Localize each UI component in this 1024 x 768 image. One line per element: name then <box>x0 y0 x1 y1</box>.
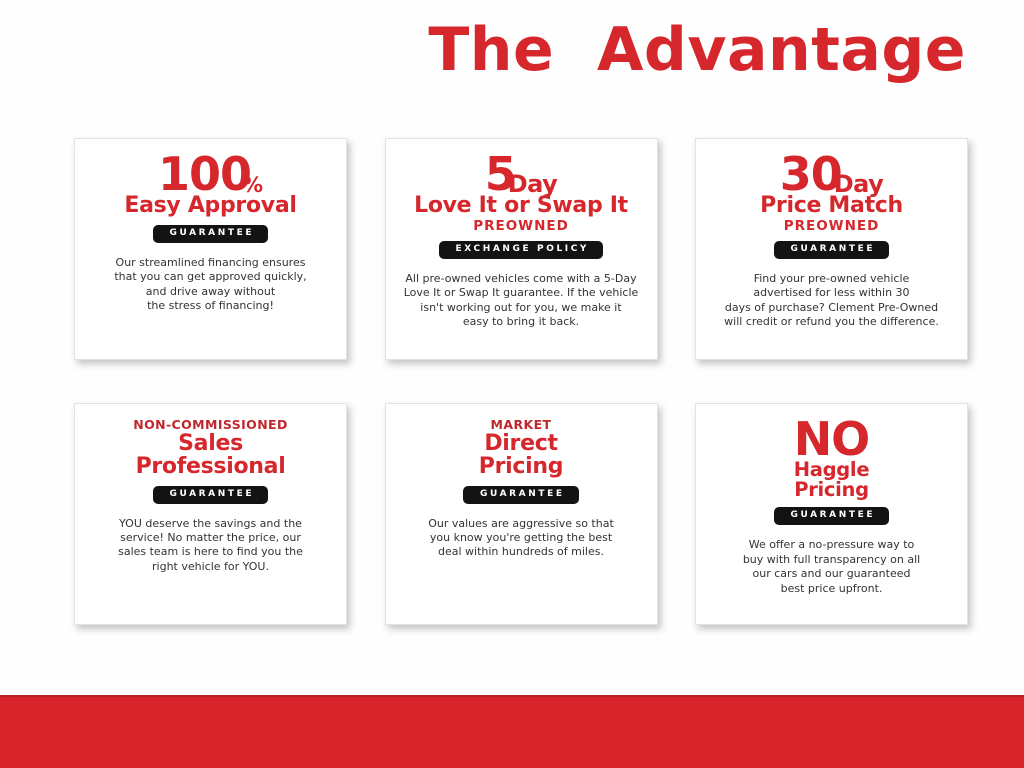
page-title: The Advantage <box>428 14 966 86</box>
card-subline: PREOWNED <box>708 218 955 234</box>
card-kicker: MARKET <box>398 418 645 432</box>
card-body-text: YOU deserve the savings and the service!… <box>118 517 303 575</box>
card-row-top: 100% Easy Approval GUARANTEE Our streaml… <box>74 138 968 360</box>
card-heading: NO Haggle Pricing <box>708 418 955 500</box>
card-headline-line2: Pricing <box>398 456 645 479</box>
card-heading: 100% Easy Approval <box>87 153 334 218</box>
lockup-day-word: Day <box>834 170 884 198</box>
card-headline: Sales <box>87 433 334 456</box>
card-inner: NO Haggle Pricing GUARANTEE We offer a n… <box>708 418 955 596</box>
lockup-5-day: 5Day <box>398 153 645 195</box>
card-inner: MARKET Direct Pricing GUARANTEE Our valu… <box>398 418 645 560</box>
lockup-day-word: Day <box>508 170 558 198</box>
card-inner: 30Day Price Match PREOWNED GUARANTEE Fin… <box>708 153 955 330</box>
lockup-no: NO <box>708 418 955 460</box>
card-heading: 30Day Price Match PREOWNED <box>708 153 955 234</box>
guarantee-badge: GUARANTEE <box>774 241 889 259</box>
card-kicker: NON-COMMISSIONED <box>87 418 334 432</box>
card-inner: 5Day Love It or Swap It PREOWNED EXCHANG… <box>398 153 645 330</box>
card-sales-professional[interactable]: NON-COMMISSIONED Sales Professional GUAR… <box>74 403 347 625</box>
card-headline: Haggle <box>708 460 955 480</box>
guarantee-badge: GUARANTEE <box>153 225 268 243</box>
card-inner: 100% Easy Approval GUARANTEE Our streaml… <box>87 153 334 313</box>
card-headline: Direct <box>398 433 645 456</box>
lockup-percent-symbol: % <box>242 173 263 197</box>
card-body-text: Our values are aggressive so that you kn… <box>428 517 614 560</box>
card-inner: NON-COMMISSIONED Sales Professional GUAR… <box>87 418 334 574</box>
card-headline-line2: Professional <box>87 456 334 479</box>
card-body-text: All pre-owned vehicles come with a 5-Day… <box>404 272 639 330</box>
card-headline-line2: Pricing <box>708 480 955 500</box>
card-heading: MARKET Direct Pricing <box>398 418 645 479</box>
card-body-text: We offer a no-pressure way to buy with f… <box>743 538 920 596</box>
card-row-bottom: NON-COMMISSIONED Sales Professional GUAR… <box>74 403 968 625</box>
card-headline: Easy Approval <box>87 195 334 218</box>
card-no-haggle-pricing[interactable]: NO Haggle Pricing GUARANTEE We offer a n… <box>695 403 968 625</box>
card-easy-approval[interactable]: 100% Easy Approval GUARANTEE Our streaml… <box>74 138 347 360</box>
card-subline: PREOWNED <box>398 218 645 234</box>
advantage-card-grid: 100% Easy Approval GUARANTEE Our streaml… <box>74 138 968 625</box>
page-header: The Advantage <box>0 0 1024 104</box>
lockup-30-day: 30Day <box>708 153 955 195</box>
card-body-text: Find your pre-owned vehicle advertised f… <box>724 272 939 330</box>
card-body-text: Our streamlined financing ensures that y… <box>114 256 306 314</box>
lockup-100-percent: 100% <box>87 153 334 195</box>
guarantee-badge: GUARANTEE <box>463 486 578 504</box>
card-headline: Love It or Swap It <box>398 195 645 218</box>
footer-bar <box>0 695 1024 768</box>
advantage-page: The Advantage 100% Easy Approval GUARANT… <box>0 0 1024 768</box>
card-heading: 5Day Love It or Swap It PREOWNED <box>398 153 645 234</box>
card-headline: Price Match <box>708 195 955 218</box>
card-price-match[interactable]: 30Day Price Match PREOWNED GUARANTEE Fin… <box>695 138 968 360</box>
card-love-it-or-swap-it[interactable]: 5Day Love It or Swap It PREOWNED EXCHANG… <box>385 138 658 360</box>
exchange-policy-badge: EXCHANGE POLICY <box>439 241 603 259</box>
card-heading: NON-COMMISSIONED Sales Professional <box>87 418 334 479</box>
card-direct-pricing[interactable]: MARKET Direct Pricing GUARANTEE Our valu… <box>385 403 658 625</box>
guarantee-badge: GUARANTEE <box>774 507 889 525</box>
guarantee-badge: GUARANTEE <box>153 486 268 504</box>
